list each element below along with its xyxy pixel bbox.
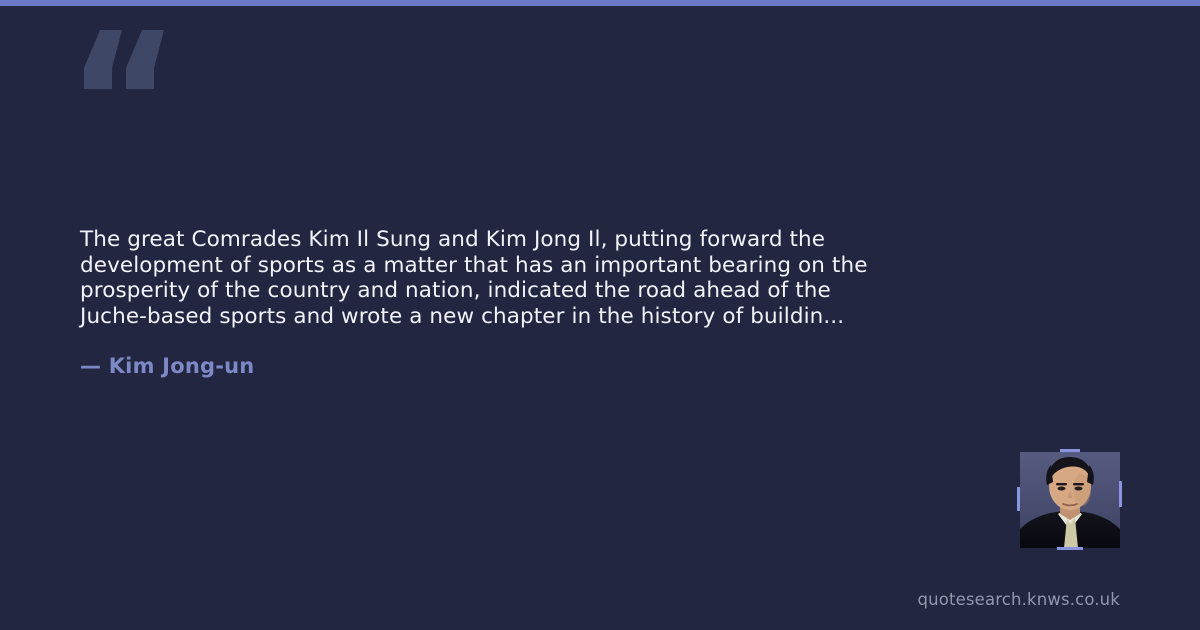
quote-line: prosperity of the country and nation, in… [80, 278, 1080, 304]
source-url: quotesearch.knws.co.uk [918, 590, 1120, 609]
quote-attribution: — Kim Jong-un [80, 354, 254, 378]
portrait-accent-tick-right [1119, 481, 1122, 507]
quote-line: development of sports as a matter that h… [80, 253, 1080, 279]
quote-line: Juche-based sports and wrote a new chapt… [80, 304, 1080, 330]
portrait-accent-tick-left [1017, 487, 1020, 511]
author-portrait-image [1020, 452, 1120, 548]
quote-line: The great Comrades Kim Il Sung and Kim J… [80, 227, 1080, 253]
portrait-accent-tick-top [1060, 449, 1080, 452]
double-quote-open-icon [78, 6, 198, 116]
portrait-accent-tick-bottom [1057, 547, 1083, 550]
quote-text: The great Comrades Kim Il Sung and Kim J… [80, 227, 1080, 329]
quote-card: The great Comrades Kim Il Sung and Kim J… [0, 0, 1200, 630]
